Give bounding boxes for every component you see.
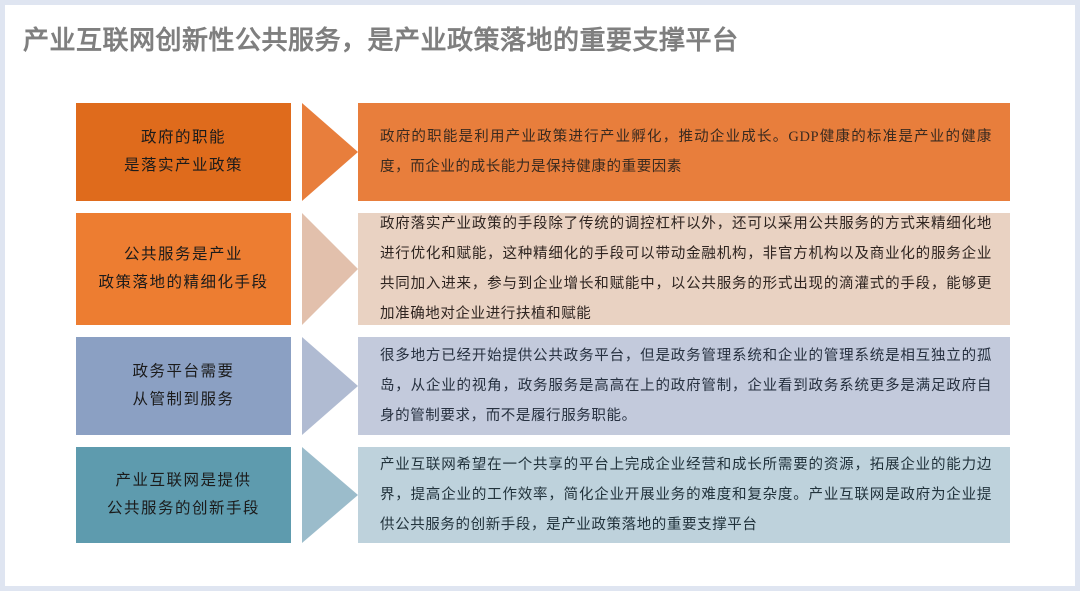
slide-canvas: 产业互联网创新性公共服务，是产业政策落地的重要支撑平台 政府的职能 是落实产业政…: [0, 0, 1080, 591]
arrow-right-icon: [302, 103, 358, 201]
process-row: 产业互联网是提供 公共服务的创新手段 产业互联网希望在一个共享的平台上完成企业经…: [76, 447, 1010, 543]
row-label-text: 政府的职能 是落实产业政策: [124, 124, 243, 180]
process-row: 公共服务是产业 政策落地的精细化手段 政府落实产业政策的手段除了传统的调控杠杆以…: [76, 213, 1010, 325]
arrow-right-icon: [302, 213, 358, 325]
row-body-panel[interactable]: 政府落实产业政策的手段除了传统的调控杠杆以外，还可以采用公共服务的方式来精细化地…: [358, 213, 1010, 325]
process-row: 政务平台需要 从管制到服务 很多地方已经开始提供公共政务平台，但是政务管理系统和…: [76, 337, 1010, 435]
row-body-text: 很多地方已经开始提供公共政务平台，但是政务管理系统和企业的管理系统是相互独立的孤…: [380, 341, 992, 431]
row-label-panel[interactable]: 政务平台需要 从管制到服务: [76, 337, 291, 435]
page-title: 产业互联网创新性公共服务，是产业政策落地的重要支撑平台: [23, 23, 1023, 57]
row-label-panel[interactable]: 产业互联网是提供 公共服务的创新手段: [76, 447, 291, 543]
row-body-panel[interactable]: 产业互联网希望在一个共享的平台上完成企业经营和成长所需要的资源，拓展企业的能力边…: [358, 447, 1010, 543]
process-row: 政府的职能 是落实产业政策 政府的职能是利用产业政策进行产业孵化，推动企业成长。…: [76, 103, 1010, 201]
row-label-text: 公共服务是产业 政策落地的精细化手段: [98, 241, 268, 297]
row-body-panel[interactable]: 很多地方已经开始提供公共政务平台，但是政务管理系统和企业的管理系统是相互独立的孤…: [358, 337, 1010, 435]
row-label-panel[interactable]: 政府的职能 是落实产业政策: [76, 103, 291, 201]
row-body-panel[interactable]: 政府的职能是利用产业政策进行产业孵化，推动企业成长。GDP健康的标准是产业的健康…: [358, 103, 1010, 201]
arrow-right-icon: [302, 337, 358, 435]
row-label-text: 政务平台需要 从管制到服务: [132, 358, 234, 414]
row-gap: [291, 103, 302, 201]
row-label-panel[interactable]: 公共服务是产业 政策落地的精细化手段: [76, 213, 291, 325]
process-rows-container: 政府的职能 是落实产业政策 政府的职能是利用产业政策进行产业孵化，推动企业成长。…: [76, 103, 1010, 555]
row-label-text: 产业互联网是提供 公共服务的创新手段: [107, 467, 260, 523]
row-gap: [291, 337, 302, 435]
row-body-text: 产业互联网希望在一个共享的平台上完成企业经营和成长所需要的资源，拓展企业的能力边…: [380, 450, 992, 540]
row-body-text: 政府的职能是利用产业政策进行产业孵化，推动企业成长。GDP健康的标准是产业的健康…: [380, 122, 992, 182]
arrow-right-icon: [302, 447, 358, 543]
row-gap: [291, 447, 302, 543]
row-body-text: 政府落实产业政策的手段除了传统的调控杠杆以外，还可以采用公共服务的方式来精细化地…: [380, 209, 992, 329]
row-gap: [291, 213, 302, 325]
